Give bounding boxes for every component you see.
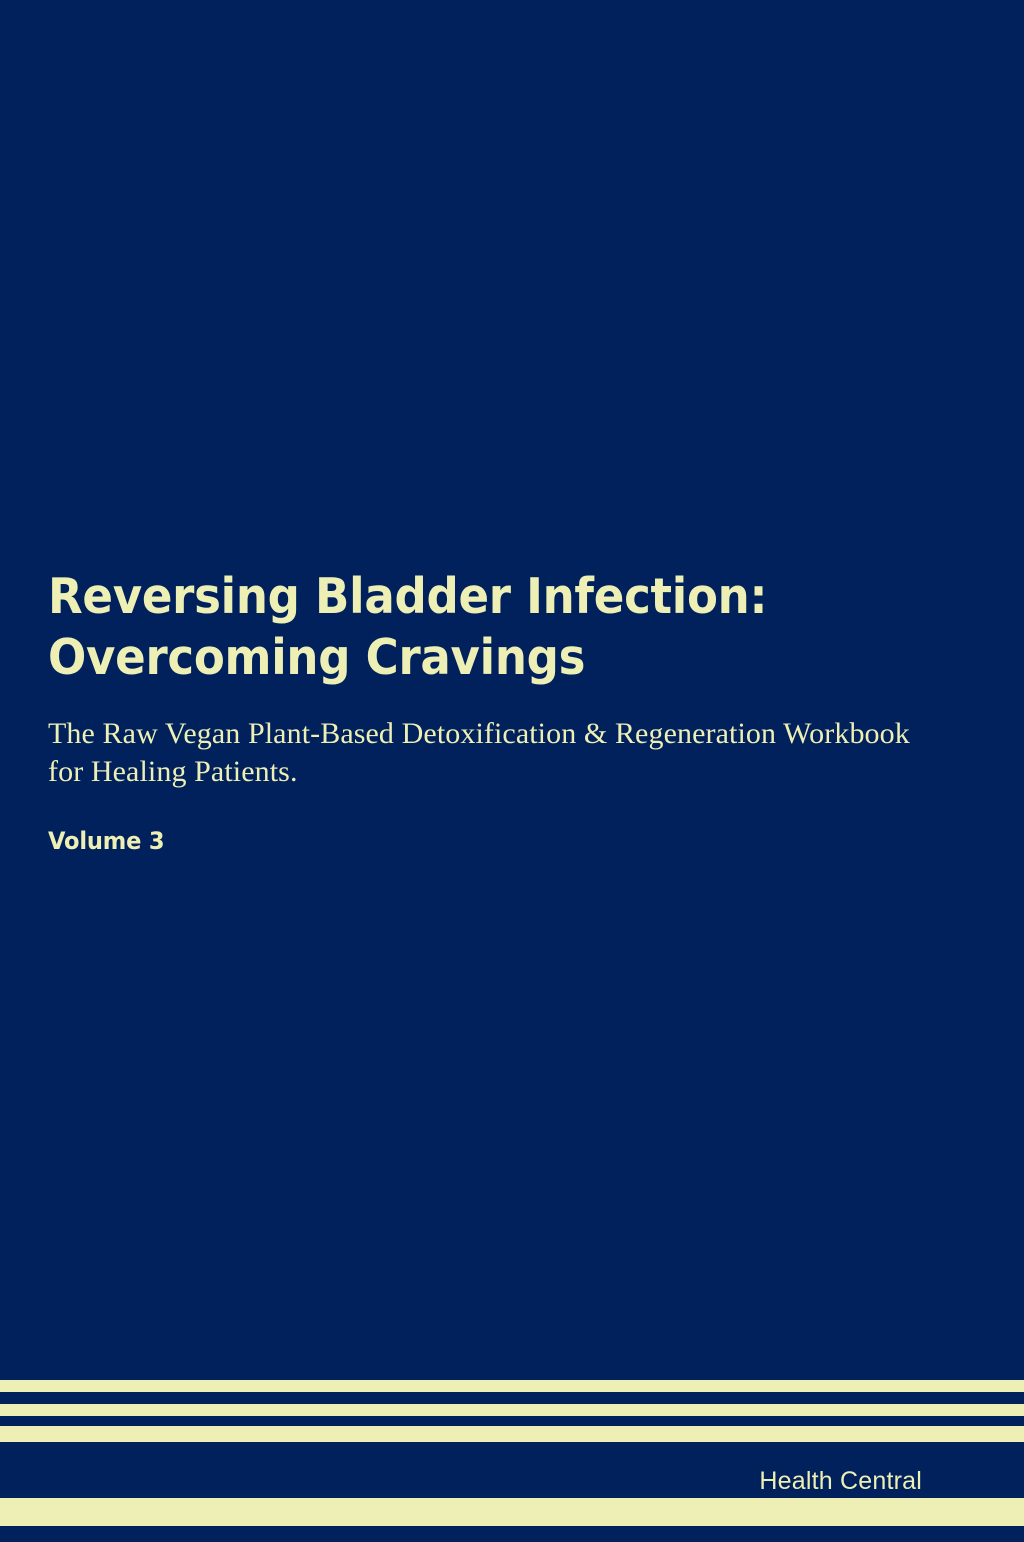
stripe-navy-3	[0, 1442, 1024, 1464]
stripe-navy-2	[0, 1416, 1024, 1426]
stripe-cream-3	[0, 1426, 1024, 1442]
cover-subtitle: The Raw Vegan Plant-Based Detoxification…	[48, 715, 928, 792]
imprint-label: Health Central	[759, 1469, 922, 1494]
imprint-row: Health Central	[0, 1464, 1024, 1498]
stripe-cream-2	[0, 1404, 1024, 1416]
stripe-navy-4	[0, 1526, 1024, 1542]
bottom-stripe-band: Health Central	[0, 1380, 1024, 1542]
stripe-cream-4	[0, 1498, 1024, 1526]
cover-text-block: Reversing Bladder Infection: Overcoming …	[48, 566, 948, 856]
stripe-cream-1	[0, 1380, 1024, 1392]
stripe-navy-1	[0, 1392, 1024, 1404]
page-title: Reversing Bladder Infection: Overcoming …	[48, 566, 876, 689]
book-cover: Reversing Bladder Infection: Overcoming …	[0, 0, 1024, 1542]
volume-label: Volume 3	[48, 827, 894, 856]
